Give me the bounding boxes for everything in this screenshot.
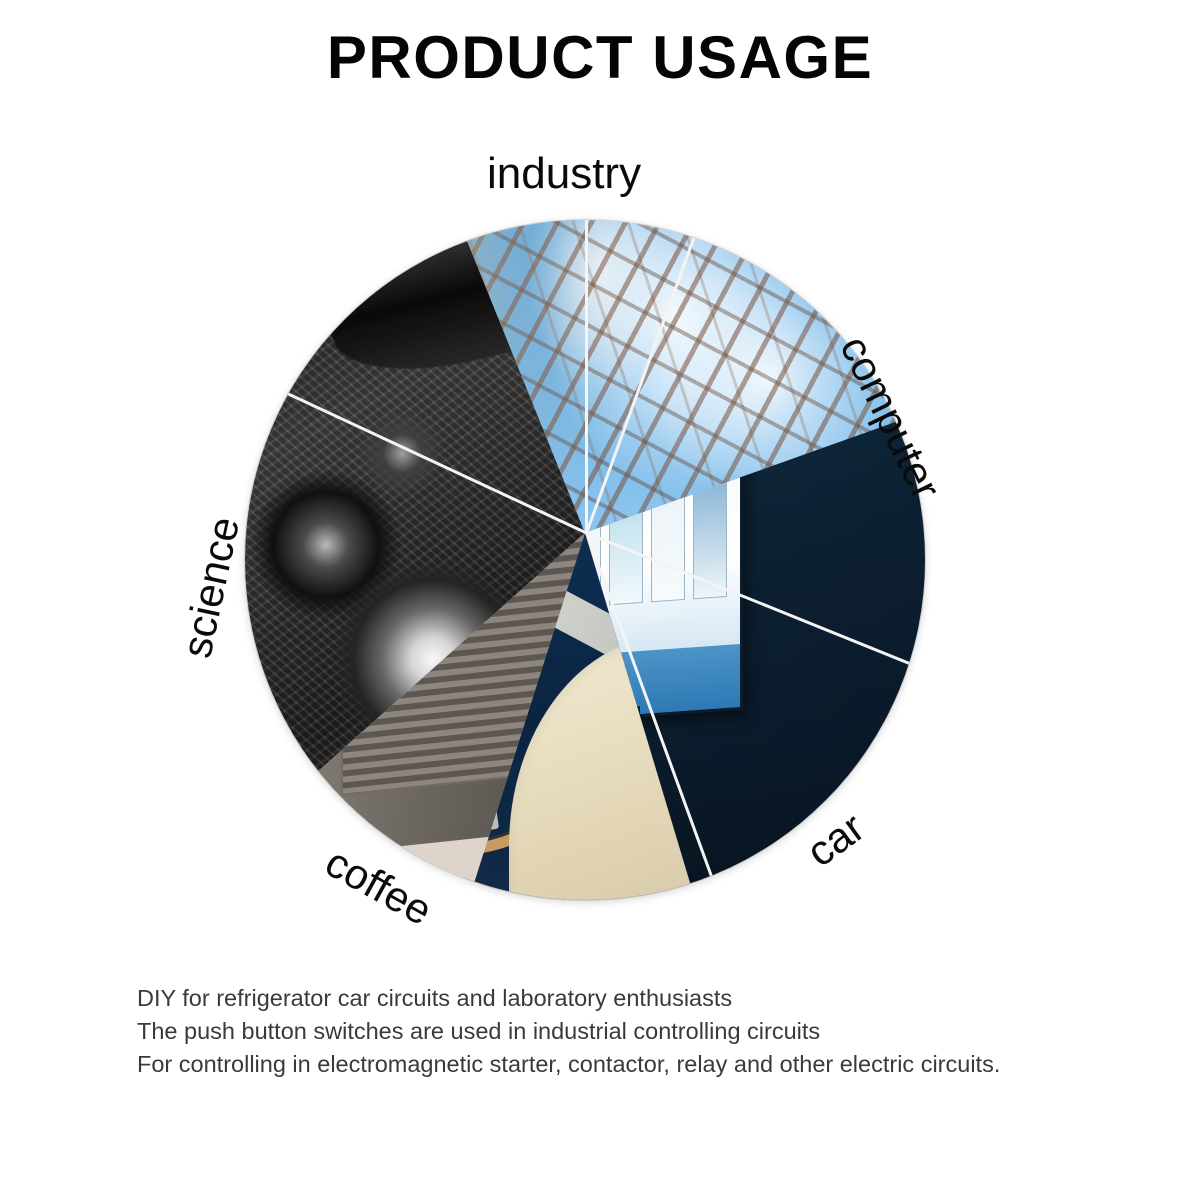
usage-collage [245, 220, 925, 900]
description-line-2: The push button switches are used in ind… [137, 1015, 1137, 1048]
page-title: PRODUCT USAGE [0, 26, 1200, 89]
description-block: DIY for refrigerator car circuits and la… [137, 982, 1137, 1081]
segment-label-industry: industry [487, 152, 641, 196]
description-line-1: DIY for refrigerator car circuits and la… [137, 982, 1137, 1015]
segment-label-science: science [175, 513, 246, 661]
collage-circle [245, 220, 925, 900]
description-line-3: For controlling in electromagnetic start… [137, 1048, 1137, 1081]
